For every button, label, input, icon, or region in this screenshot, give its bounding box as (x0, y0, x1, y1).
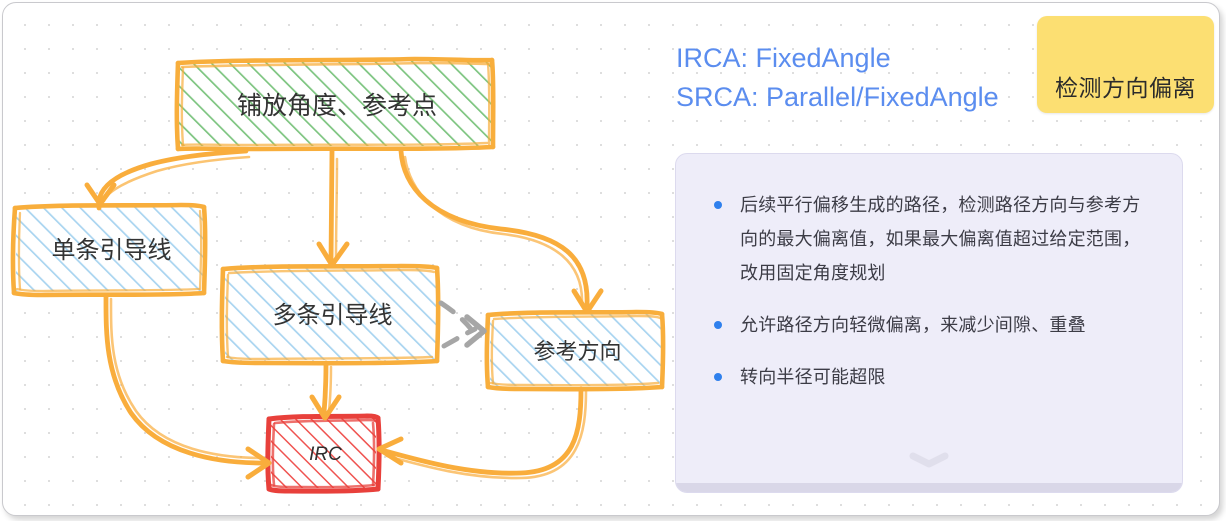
node-label: 参考方向 (527, 339, 627, 365)
node-multiple-guide-lines[interactable]: 多条引导线 (227, 270, 438, 362)
chevron-down-icon[interactable] (907, 452, 951, 468)
info-panel[interactable]: 后续平行偏移生成的路径，检测路径方向与参考方向的最大偏离值，如果最大偏离值超过给… (675, 153, 1183, 493)
node-label: IRC (303, 444, 348, 467)
edge-laying-to-multi-guide (319, 151, 347, 265)
edge-reference-direction-to-irc (379, 389, 586, 478)
blue-annotation-text[interactable]: IRCA: FixedAngle SRCA: Parallel/FixedAng… (676, 39, 999, 117)
sticky-note-detect-direction-deviation[interactable]: 检测方向偏离 (1037, 16, 1214, 113)
node-label: 多条引导线 (267, 302, 399, 331)
screenshot-root: 铺放角度、参考点 单条引导线 多条引导线 参考方向 IRC IRCA: Fixe… (0, 0, 1226, 521)
list-item-text: 转向半径可能超限 (740, 367, 886, 387)
edge-multi-guide-to-reference-direction (441, 303, 484, 346)
blue-annotation-line-1: IRCA: FixedAngle (676, 39, 999, 78)
node-label: 铺放角度、参考点 (231, 91, 443, 121)
blue-annotation-line-2: SRCA: Parallel/FixedAngle (676, 78, 999, 117)
list-item-text: 后续平行偏移生成的路径，检测路径方向与参考方向的最大偏离值，如果最大偏离值超过给… (740, 195, 1140, 283)
node-irc[interactable]: IRC (273, 420, 378, 490)
node-label: 单条引导线 (46, 237, 178, 266)
bullet-dot-icon (714, 373, 722, 381)
list-item[interactable]: 转向半径可能超限 (710, 360, 1152, 394)
node-laying-angle-reference-point[interactable]: 铺放角度、参考点 (181, 63, 493, 148)
node-single-guide-line[interactable]: 单条引导线 (18, 209, 205, 293)
diagram-canvas[interactable]: 铺放角度、参考点 单条引导线 多条引导线 参考方向 IRC IRCA: Fixe… (2, 2, 1220, 516)
bullet-dot-icon (714, 321, 722, 329)
edge-laying-to-single-guide (87, 151, 249, 208)
list-item[interactable]: 后续平行偏移生成的路径，检测路径方向与参考方向的最大偏离值，如果最大偏离值超过给… (710, 188, 1152, 290)
node-reference-direction[interactable]: 参考方向 (492, 316, 663, 388)
list-item[interactable]: 允许路径方向轻微偏离，来减少间隙、重叠 (710, 308, 1152, 342)
panel-footer-bar (676, 483, 1182, 492)
bullet-list: 后续平行偏移生成的路径，检测路径方向与参考方向的最大偏离值，如果最大偏离值超过给… (676, 154, 1182, 394)
edge-multi-guide-to-irc (312, 363, 339, 418)
bullet-dot-icon (714, 201, 722, 209)
sticky-note-label: 检测方向偏离 (1055, 69, 1196, 103)
list-item-text: 允许路径方向轻微偏离，来减少间隙、重叠 (740, 315, 1086, 335)
